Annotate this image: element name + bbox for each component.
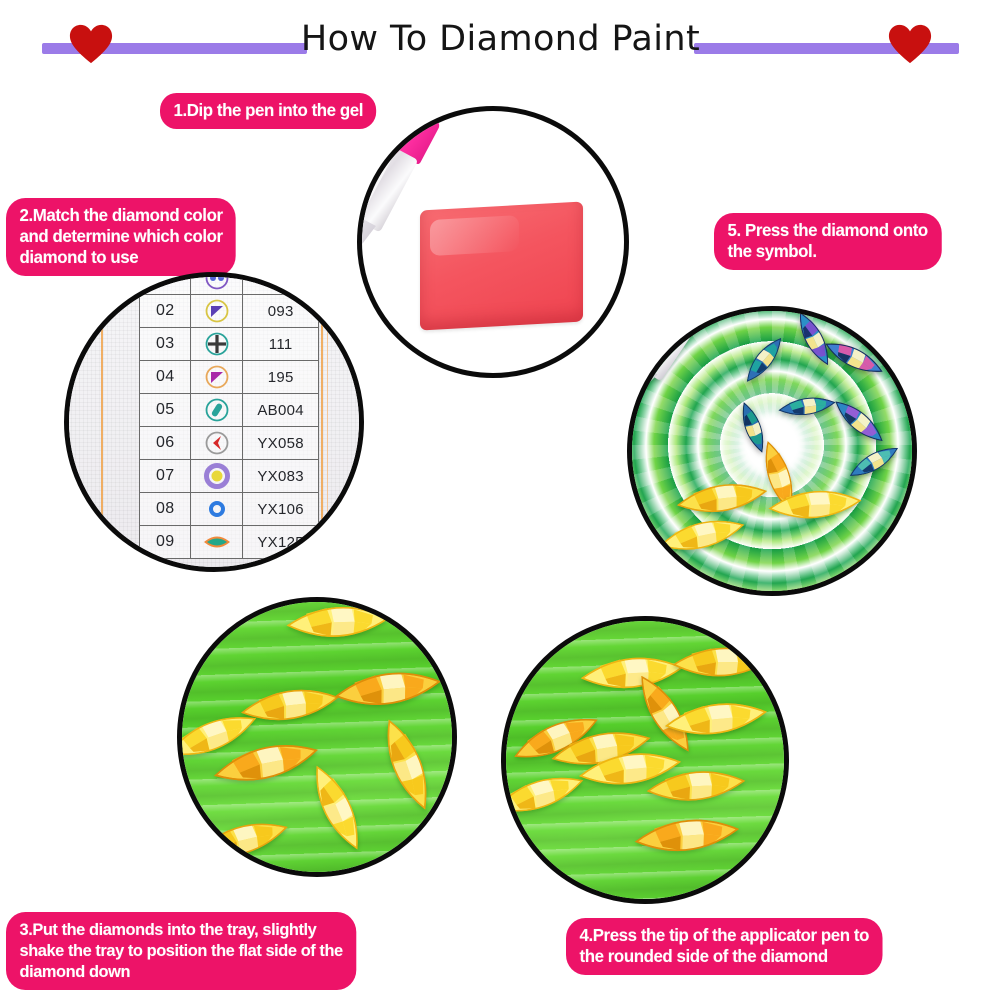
- diamond-gem: [634, 811, 740, 860]
- table-row: 08YX106: [140, 493, 319, 526]
- placing-diamond-photo: [627, 306, 917, 596]
- step-3-line-2: shake the tray to position the flat side…: [20, 940, 343, 961]
- pen-picking-diamond-scene: [506, 621, 784, 899]
- chart-number-cell: 02: [140, 295, 191, 328]
- chart-number-cell: 07: [140, 460, 191, 493]
- step-1-label: 1.Dip the pen into the gel: [160, 93, 377, 129]
- chart-code-cell: 093: [243, 295, 319, 328]
- chart-number-cell: 08: [140, 493, 191, 526]
- diamond-gem: [672, 639, 772, 685]
- chart-number-cell: 09: [140, 526, 191, 559]
- diamonds-in-tray-photo: [177, 597, 457, 877]
- pen-tip: [357, 241, 358, 275]
- step-2-line-3: diamond to use: [20, 247, 223, 268]
- header: How To Diamond Paint: [0, 0, 1001, 80]
- table-row: 07YX083: [140, 460, 319, 493]
- chart-guide-line: [101, 277, 103, 567]
- chart-number-cell: 03: [140, 328, 191, 361]
- chart-code-cell: YX083: [243, 460, 319, 493]
- diamond-gem: [578, 745, 682, 793]
- iridescent-gem: [828, 407, 890, 436]
- pen-picking-diamond-photo: [501, 616, 789, 904]
- placing-diamond-scene: [632, 311, 912, 591]
- chart-code-cell: YX106: [243, 493, 319, 526]
- step-4-line-1: 4.Press the tip of the applicator pen to: [580, 925, 869, 946]
- plus-cross-icon: [191, 328, 243, 361]
- diamond-gem: [334, 664, 442, 714]
- pen-into-gel-photo: [357, 106, 629, 378]
- chart-code-cell: YX058: [243, 427, 319, 460]
- diamond-gem: [286, 598, 390, 646]
- double-dot-circle-icon: [191, 272, 243, 295]
- step-2-line-1: 2.Match the diamond color: [20, 205, 223, 226]
- filled-donut-icon: [191, 460, 243, 493]
- step-5-line-2: the symbol.: [728, 241, 928, 262]
- slash-capsule-icon: [191, 394, 243, 427]
- chart-code-cell: 195: [243, 361, 319, 394]
- step-4-label: 4.Press the tip of the applicator pen to…: [566, 918, 882, 975]
- step-4-line-2: the rounded side of the diamond: [580, 946, 869, 967]
- table-row: 09YX125: [140, 526, 319, 559]
- step-2-line-2: and determine which color: [20, 226, 223, 247]
- iridescent-gem: [726, 415, 780, 440]
- page-title: How To Diamond Paint: [0, 19, 1001, 59]
- left-chevron-icon: [191, 427, 243, 460]
- table-row: 06YX058: [140, 427, 319, 460]
- chart-code-cell: AB004: [243, 394, 319, 427]
- step-5-label: 5. Press the diamond onto the symbol.: [714, 213, 941, 270]
- diamond-gem: [501, 773, 586, 816]
- step-3-label: 3.Put the diamonds into the tray, slight…: [6, 912, 356, 990]
- chart-number-cell: 06: [140, 427, 191, 460]
- color-chart-scene: 01 0280209303 1110419505AB00406YX05807YX…: [69, 277, 359, 567]
- iridescent-gem: [846, 449, 902, 475]
- chart-number-cell: 04: [140, 361, 191, 394]
- quarter-wedge-icon: [191, 295, 243, 328]
- diamond-gem: [358, 742, 456, 787]
- table-row: 03 111: [140, 328, 319, 361]
- diamond-gem: [664, 695, 768, 743]
- diamond-gem: [768, 483, 862, 526]
- step-3-line-3: diamond down: [20, 961, 343, 982]
- step-3-line-1: 3.Put the diamonds into the tray, slight…: [20, 919, 343, 940]
- infographic-canvas: How To Diamond Paint 1.Dip the pen into …: [0, 0, 1001, 1001]
- step-5-line-1: 5. Press the diamond onto: [728, 220, 928, 241]
- pen-into-gel-scene: [362, 111, 624, 373]
- chart-guide-line: [321, 277, 323, 567]
- step-1-line-1: 1.Dip the pen into the gel: [174, 100, 364, 121]
- chart-code-cell: YX125: [243, 526, 319, 559]
- leaf-eye-icon: [191, 526, 243, 559]
- table-row: 04195: [140, 361, 319, 394]
- pen-tip: [627, 383, 639, 429]
- chart-number-cell: 05: [140, 394, 191, 427]
- open-ring-icon: [191, 493, 243, 526]
- iridescent-gem: [822, 343, 886, 372]
- chart-code-cell: 028: [243, 272, 319, 295]
- diamond-gem: [290, 786, 384, 829]
- table-row: 05AB004: [140, 394, 319, 427]
- pen-body: [357, 142, 418, 232]
- chart-code-cell: 111: [243, 328, 319, 361]
- diamond-gem: [194, 818, 290, 862]
- quarter-wedge-icon: [191, 361, 243, 394]
- table-row: 02093: [140, 295, 319, 328]
- diamond-color-legend: 01 0280209303 1110419505AB00406YX05807YX…: [139, 272, 319, 559]
- gel-pad: [420, 201, 583, 330]
- chart-guide-line: [327, 277, 328, 567]
- color-chart-photo: 01 0280209303 1110419505AB00406YX05807YX…: [64, 272, 364, 572]
- diamond-gem: [658, 515, 746, 555]
- step-2-label: 2.Match the diamond color and determine …: [6, 198, 236, 276]
- diamonds-in-tray-scene: [182, 602, 452, 872]
